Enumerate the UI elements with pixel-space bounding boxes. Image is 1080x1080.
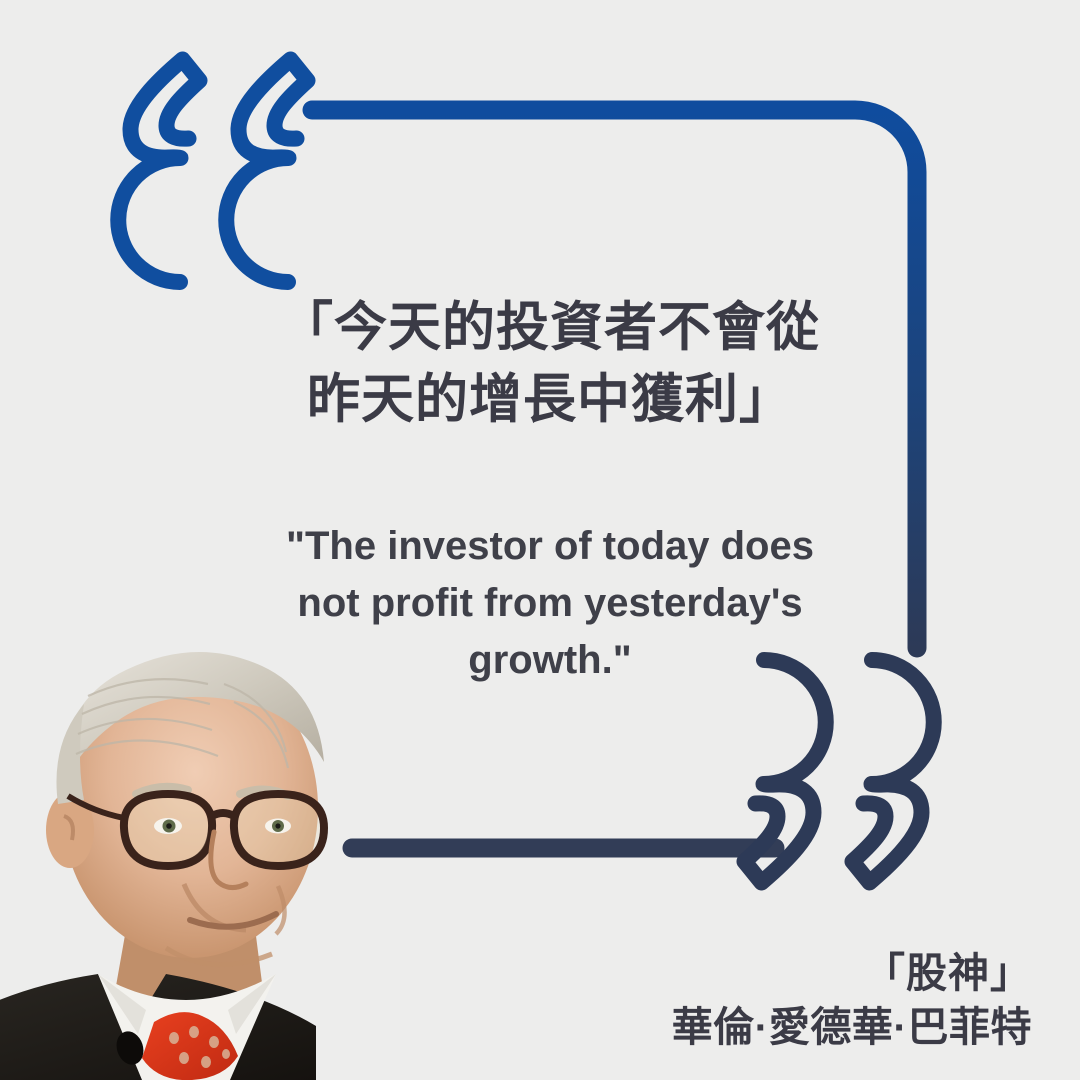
attribution-title: 「股神」 (672, 946, 1032, 1000)
quote-card: 「今天的投資者不會從 昨天的增長中獲利」 "The investor of to… (0, 0, 1080, 1080)
quote-chinese: 「今天的投資者不會從 昨天的增長中獲利」 (220, 292, 880, 436)
attribution-name: 華倫·愛德華·巴菲特 (672, 1000, 1032, 1054)
warren-buffett-portrait (0, 618, 398, 1080)
quotation-mark-open-icon (96, 36, 346, 298)
attribution: 「股神」 華倫·愛德華·巴菲特 (672, 946, 1032, 1054)
